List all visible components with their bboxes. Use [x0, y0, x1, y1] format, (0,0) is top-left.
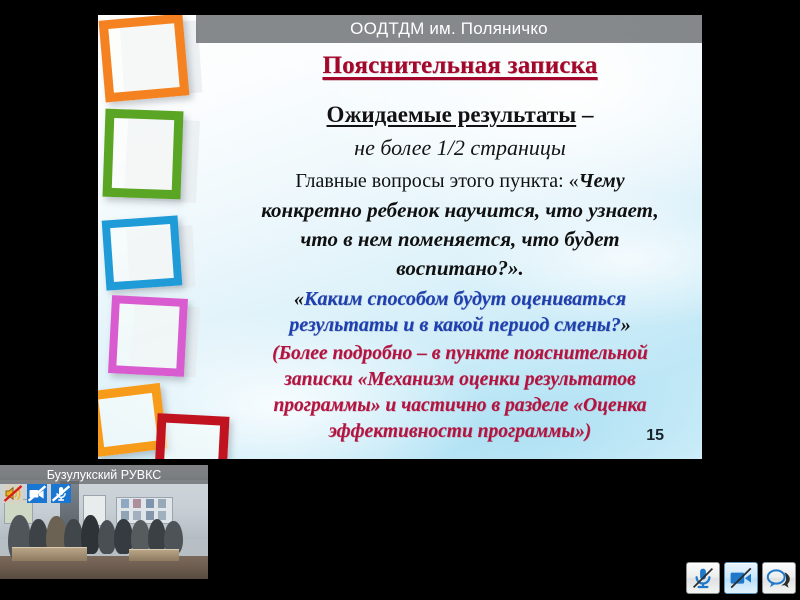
participant-label-bar: Бузулукский РУВКС	[0, 465, 208, 484]
frame-orange-bottom	[98, 383, 168, 457]
slide-subheading-results-text: Ожидаемые результаты	[327, 102, 577, 127]
slide-subheading-results: Ожидаемые результаты –	[218, 103, 702, 126]
front-table	[12, 547, 87, 561]
slide-question-line-1: Главные вопросы этого пункта: «Чему	[218, 171, 702, 191]
chat-toggle-button[interactable]	[762, 562, 796, 594]
slide-question-line-1-plain: Главные вопросы этого пункта: «	[295, 170, 578, 192]
frame-orange-top	[99, 15, 190, 103]
decorative-frame-column	[98, 15, 228, 459]
camera-off-icon	[27, 484, 47, 503]
slide-heading: Пояснительная записка	[218, 53, 702, 78]
slide-blue-close-quote: »	[621, 314, 631, 336]
app-stage: Пояснительная записка Ожидаемые результа…	[0, 0, 800, 600]
frame-blue	[102, 215, 183, 290]
slide-blue-line-1: «Каким способом будут оцениваться	[218, 289, 702, 309]
side-table	[129, 549, 179, 560]
frame-green-shadow	[124, 117, 200, 203]
slide-blue-open-quote: «	[294, 288, 304, 310]
share-title-label: ООДТДМ им. Поляничко	[350, 19, 548, 39]
frame-magenta	[108, 295, 188, 377]
participant-status-icons	[3, 484, 71, 503]
wall-poster-3	[146, 499, 154, 508]
microphone-toggle-button[interactable]	[686, 562, 720, 594]
slide-blue-line-1-text: Каким способом будут оцениваться	[304, 288, 626, 310]
slide-crimson-line-4: эффективности программы»)	[218, 422, 702, 442]
slide-crimson-line-3: программы» и частично в разделе «Оценка	[218, 396, 702, 416]
frame-blue-shadow	[126, 225, 195, 290]
participant-video-tile[interactable]: Бузулукский РУВКС	[0, 465, 208, 579]
share-title-overlay: ООДТДМ им. Поляничко	[196, 15, 702, 43]
slide-subheading-limit: не более 1/2 страницы	[218, 137, 702, 159]
slide-question-line-1-emphasis: Чему	[579, 170, 625, 192]
slide-blue-line-2: результаты и в какой период смены?»	[218, 315, 702, 335]
frame-orange-top-shadow	[120, 20, 203, 97]
frame-magenta-shadow	[130, 303, 201, 377]
media-control-bar	[686, 562, 796, 594]
slide-question-line-4: воспитано?».	[218, 258, 702, 279]
shared-presentation-slide[interactable]: Пояснительная записка Ожидаемые результа…	[98, 15, 702, 459]
slide-number: 15	[646, 427, 664, 445]
camera-off-icon	[729, 566, 753, 590]
slide-crimson-line-1: (Более подробно – в пункте пояснительной	[218, 344, 702, 364]
slide-text-body: Пояснительная записка Ожидаемые результа…	[218, 15, 702, 459]
slide-blue-line-2-text: результаты и в какой период смены?	[289, 314, 620, 336]
wall-poster-6	[133, 511, 141, 520]
slide-question-line-3: что в нем поменяется, что будет	[218, 229, 702, 250]
slide-crimson-line-2: записки «Механизм оценки результатов	[218, 370, 702, 390]
speaker-muted-icon	[3, 484, 23, 503]
wall-poster-4	[158, 499, 166, 508]
participant-name-label: Бузулукский РУВКС	[47, 468, 162, 482]
wall-poster-2	[133, 499, 141, 508]
wall-poster-7	[146, 511, 154, 520]
microphone-muted-icon	[51, 484, 71, 503]
microphone-muted-icon	[691, 566, 715, 590]
wall-poster-1	[121, 499, 129, 508]
chat-bubble-icon	[766, 566, 792, 590]
slide-subheading-results-dash: –	[576, 102, 593, 127]
camera-toggle-button[interactable]	[724, 562, 758, 594]
slide-question-line-2: конкретно ребенок научится, что узнает,	[218, 200, 702, 221]
wall-poster-8	[158, 511, 166, 520]
frame-green	[102, 109, 183, 200]
